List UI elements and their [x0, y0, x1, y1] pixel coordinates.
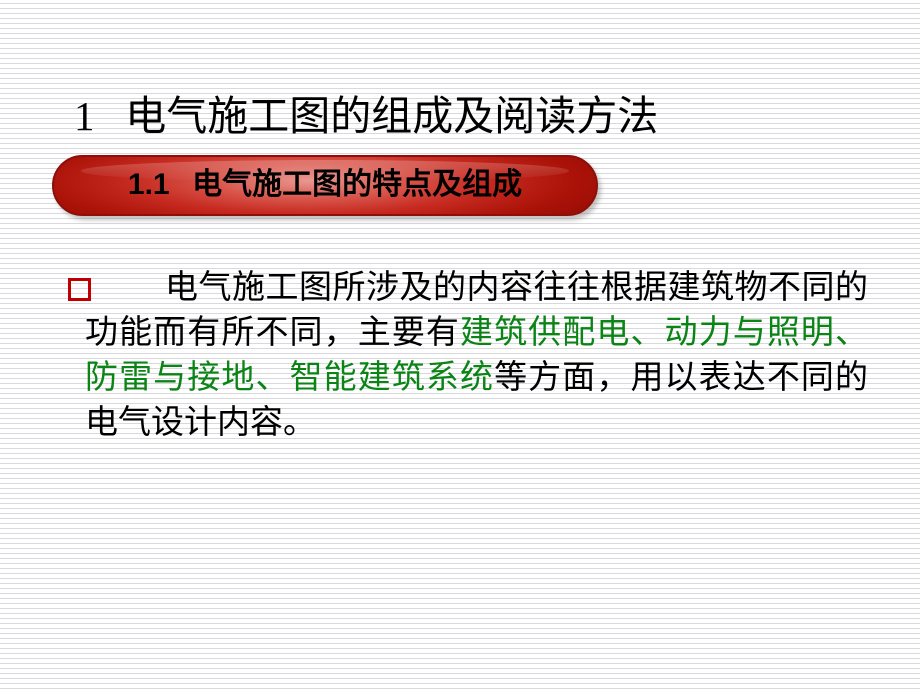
page-title-spacer: [105, 93, 115, 139]
body-paragraph: 电气施工图所涉及的内容往往根据建筑物不同的功能而有所不同，主要有建筑供配电、动力…: [68, 266, 868, 446]
section-heading-label: 电气施工图的特点及组成: [192, 168, 522, 201]
hollow-square-bullet-icon: [68, 278, 91, 301]
section-heading-text: 1.1 电气施工图的特点及组成: [128, 168, 522, 204]
page-title: 1 电气施工图的组成及阅读方法: [74, 92, 874, 140]
section-heading-pill[interactable]: 1.1 电气施工图的特点及组成: [52, 155, 598, 216]
page-title-label: 电气施工图的组成及阅读方法: [125, 93, 658, 139]
section-heading-spacer: [177, 168, 185, 201]
slide-canvas: 1 电气施工图的组成及阅读方法 1.1 电气施工图的特点及组成 电气施工图所涉及…: [0, 0, 920, 690]
body-block: 电气施工图所涉及的内容往往根据建筑物不同的功能而有所不同，主要有建筑供配电、动力…: [68, 266, 868, 446]
section-heading-number: 1.1: [128, 168, 170, 201]
page-title-number: 1: [74, 93, 95, 139]
